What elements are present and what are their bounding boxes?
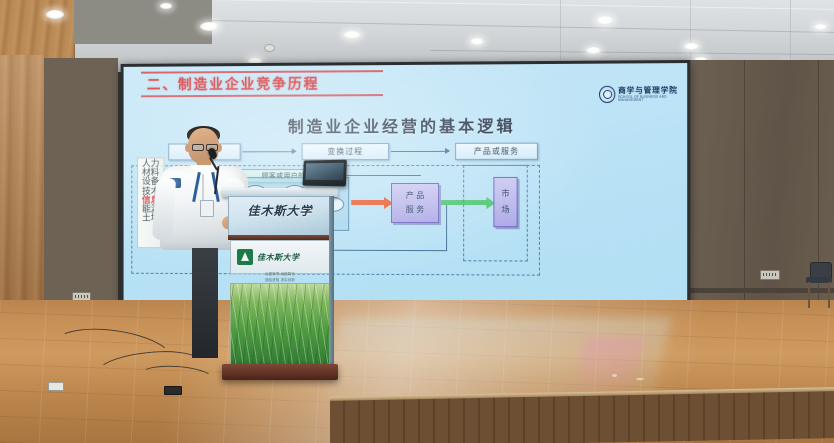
ceiling-downlight <box>46 10 64 19</box>
ceiling-seam <box>212 0 834 10</box>
arrow-to-product <box>351 200 385 205</box>
podium-plaque: 佳木斯大学 <box>230 240 330 274</box>
arrow-transform-to-output <box>391 151 449 153</box>
stage-front-panel <box>330 391 834 443</box>
smoke-detector-icon <box>264 44 275 52</box>
podium-base <box>222 364 338 380</box>
service-label: 服 务 <box>406 203 425 217</box>
ceiling-seam <box>212 20 834 33</box>
ceiling-seam <box>430 50 834 55</box>
market-boundary-dashed <box>463 165 528 262</box>
side-chair <box>804 262 832 310</box>
podium-plaque-name: 佳木斯大学 <box>257 252 300 263</box>
microphone-stem <box>209 157 217 170</box>
process-box-output: 产品或服务 <box>455 143 538 160</box>
title-rule-bottom <box>141 94 383 97</box>
university-emblem-icon <box>237 249 253 265</box>
ceiling-downlight <box>160 3 172 9</box>
left-wood-wall-panel <box>0 55 44 317</box>
ceiling-downlight <box>343 31 361 39</box>
floor-debris <box>636 378 644 380</box>
floor-power-outlet <box>48 382 64 391</box>
floor-connector <box>164 386 182 395</box>
feedback-line-vertical <box>446 205 447 250</box>
speaker-badge <box>200 200 214 217</box>
ceiling-downlight <box>684 43 699 50</box>
ceiling-downlight <box>814 24 827 30</box>
ceiling-downlight <box>200 22 219 31</box>
product-service-box: 产 品 服 务 <box>391 183 439 223</box>
left-wall-panel <box>44 58 118 316</box>
ceiling-downlight <box>470 38 484 45</box>
podium-tea-field-graphic <box>230 283 332 367</box>
ceiling-wood-panel <box>0 0 75 60</box>
wall-outlet-plate <box>760 270 780 280</box>
institution-logo: 商学与管理学院 SCHOOL OF BUSINESS AND MANAGEMEN… <box>599 85 687 103</box>
ceiling-downlight <box>586 47 601 54</box>
lecture-hall-photo: 二、制造业企业竞争历程 商学与管理学院 SCHOOL OF BUSINESS A… <box>0 0 834 443</box>
speaker-ear <box>185 144 190 152</box>
product-label: 产 品 <box>406 189 425 203</box>
university-seal-icon <box>599 86 615 103</box>
ceiling-downlight <box>596 16 614 25</box>
podium-motto-line-1: 弘德崇学 尚能笃行 <box>234 272 326 277</box>
participation-connector <box>343 175 421 176</box>
chair-leg <box>808 282 810 308</box>
microphone <box>200 148 240 194</box>
wall-panel-seam <box>744 60 745 318</box>
chair-leg <box>828 282 830 308</box>
institution-name-en: SCHOOL OF BUSINESS AND MANAGEMENT <box>618 95 687 102</box>
podium-side-edge <box>329 196 334 366</box>
slide-section-title: 二、制造业企业竞争历程 <box>147 74 320 95</box>
podium: 佳木斯大学 佳木斯大学 弘德崇学 尚能笃行 团结进取 求实创新 <box>228 188 332 386</box>
microphone-stem <box>214 166 219 194</box>
podium-university-name: 佳木斯大学 <box>228 202 332 219</box>
ceiling-dark-soffit <box>74 0 212 44</box>
process-box-transform: 变换过程 <box>302 143 389 160</box>
institution-name-cn: 商学与管理学院 <box>618 86 687 94</box>
speaker-trousers <box>192 248 218 358</box>
floor-debris <box>612 374 617 377</box>
presenter-laptop <box>302 160 346 187</box>
